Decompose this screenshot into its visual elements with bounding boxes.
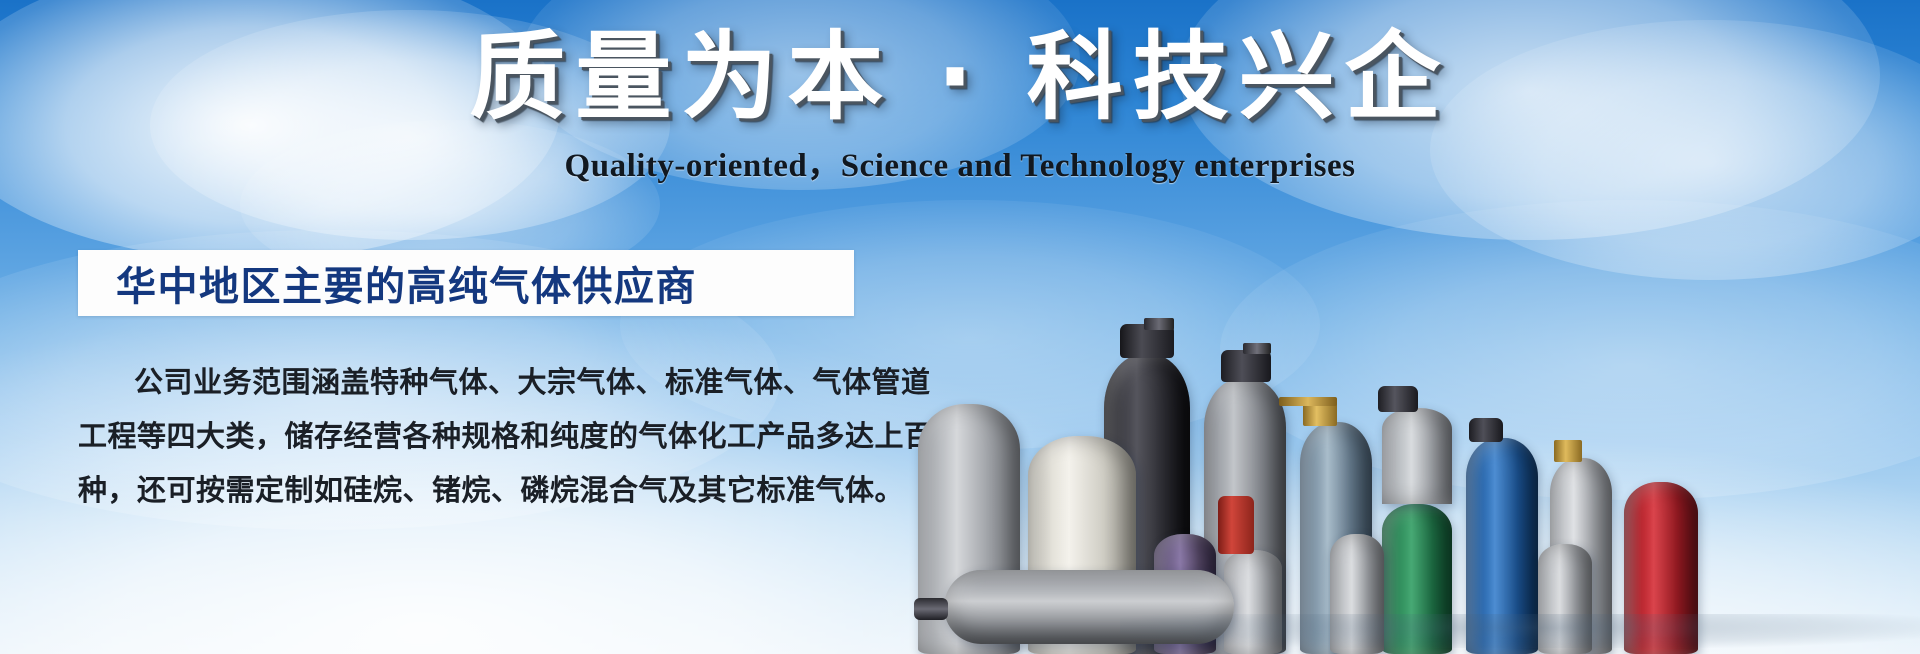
body-line: 种，还可按需定制如硅烷、锗烷、磷烷混合气及其它标准气体。 <box>78 464 868 518</box>
green-cylinder-upper <box>1382 408 1452 504</box>
aluminium-small-cylinder <box>1538 544 1592 654</box>
cylinder-cap <box>1378 386 1418 412</box>
callout-text: 华中地区主要的高纯气体供应商 <box>78 254 697 312</box>
cylinder-valve <box>1144 318 1174 330</box>
cylinder-cap <box>1221 350 1271 382</box>
green-base-cylinder <box>1382 504 1452 654</box>
body-line: 公司业务范围涵盖特种气体、大宗气体、标准气体、气体管道 <box>78 356 868 410</box>
body-line: 工程等四大类，储存经营各种规格和纯度的气体化工产品多达上百 <box>78 410 868 464</box>
grey-lying-cylinder <box>944 570 1234 644</box>
banner-body-copy: 公司业务范围涵盖特种气体、大宗气体、标准气体、气体管道 工程等四大类，储存经营各… <box>78 356 868 518</box>
brass-valve-handle <box>1279 397 1337 406</box>
gas-cylinder-group <box>1140 130 1920 654</box>
red-cylinder <box>1624 482 1698 654</box>
banner-headline: 质量为本 · 科技兴企 <box>0 24 1920 132</box>
hero-banner: 质量为本 · 科技兴企 Quality-oriented，Science and… <box>0 0 1920 654</box>
blue-cylinder <box>1466 438 1538 654</box>
brass-valve <box>1554 440 1582 462</box>
aluminium-small-cylinder <box>1330 534 1384 654</box>
cylinder-cap <box>1469 418 1503 442</box>
cylinder-valve <box>1243 343 1271 354</box>
red-cylinder-cap <box>1218 496 1254 554</box>
lying-cylinder-valve <box>914 598 948 620</box>
callout-box: 华中地区主要的高纯气体供应商 <box>78 250 854 316</box>
